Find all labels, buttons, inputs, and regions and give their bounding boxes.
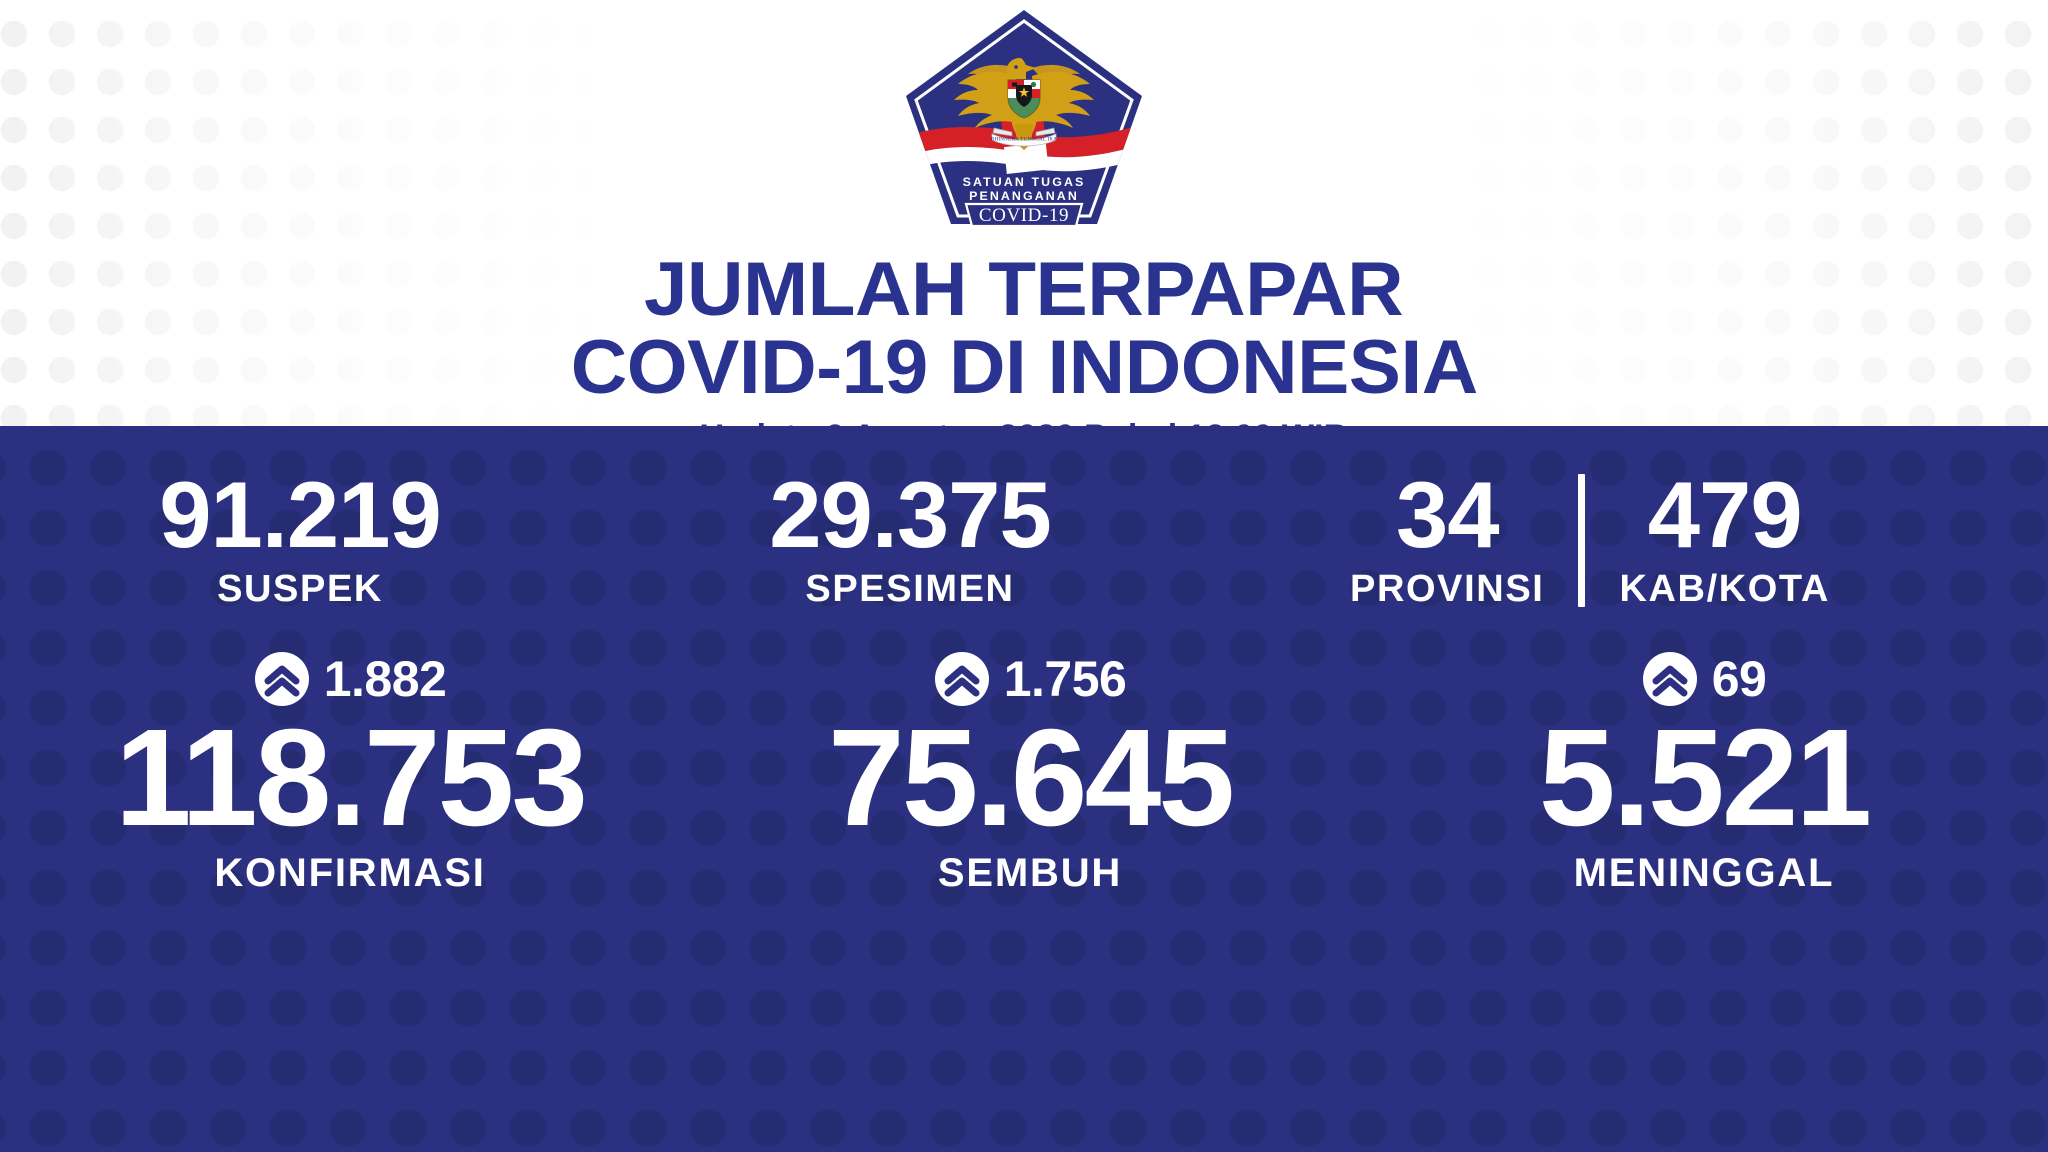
double-chevron-up-icon: [254, 651, 310, 707]
stats-row-bottom: 1.882 118.753 KONFIRMASI 1.756: [0, 648, 2048, 896]
konfirmasi-delta-value: 1.882: [324, 650, 447, 708]
stat-spesimen: 29.375 SPESIMEN: [600, 468, 1220, 611]
double-chevron-up-icon: [934, 651, 990, 707]
double-chevron-up-icon: [1642, 651, 1698, 707]
stat-konfirmasi: 1.882 118.753 KONFIRMASI: [0, 648, 700, 896]
satgas-logo: BHINNEKA TUNGGAL IKA SATUAN TUGAS PENANG…: [900, 6, 1148, 228]
suspek-value: 91.219: [159, 468, 441, 562]
suspek-label: SUSPEK: [217, 568, 383, 611]
stat-kabkota: 479 KAB/KOTA: [1585, 468, 1864, 611]
kabkota-value: 479: [1648, 468, 1802, 562]
meninggal-value: 5.521: [1539, 708, 1869, 849]
stats-row-top: 91.219 SUSPEK 29.375 SPESIMEN 34 PROVINS…: [0, 468, 2048, 611]
stat-provinsi: 34 PROVINSI: [1316, 468, 1578, 611]
stat-meninggal: 69 5.521 MENINGGAL: [1360, 648, 2048, 896]
covid19-indonesia-infographic: BHINNEKA TUNGGAL IKA SATUAN TUGAS PENANG…: [0, 0, 2048, 1152]
sembuh-label: SEMBUH: [938, 851, 1122, 896]
logo-line2-text: PENANGANAN: [969, 189, 1079, 203]
title-line-2: COVID-19 DI INDONESIA: [571, 332, 1478, 404]
stat-region: 34 PROVINSI 479 KAB/KOTA: [1220, 468, 1960, 611]
region-divider: [1578, 474, 1585, 607]
meninggal-label: MENINGGAL: [1574, 851, 1835, 896]
kabkota-label: KAB/KOTA: [1619, 568, 1830, 611]
provinsi-label: PROVINSI: [1350, 568, 1544, 611]
stat-suspek: 91.219 SUSPEK: [0, 468, 600, 611]
header-section: BHINNEKA TUNGGAL IKA SATUAN TUGAS PENANG…: [0, 0, 2048, 426]
logo-line1-text: SATUAN TUGAS: [963, 175, 1086, 189]
meninggal-delta-value: 69: [1712, 650, 1767, 708]
logo-covid19-text: COVID-19: [979, 205, 1069, 226]
title-line-1: JUMLAH TERPAPAR: [644, 254, 1403, 326]
spesimen-value: 29.375: [769, 468, 1051, 562]
spesimen-label: SPESIMEN: [805, 568, 1014, 611]
stat-sembuh: 1.756 75.645 SEMBUH: [700, 648, 1360, 896]
provinsi-value: 34: [1396, 468, 1499, 562]
stats-section: 91.219 SUSPEK 29.375 SPESIMEN 34 PROVINS…: [0, 426, 2048, 1152]
konfirmasi-label: KONFIRMASI: [214, 851, 485, 896]
update-timestamp: Update 6 Agustus 2020 Pukul 12.00 WIB: [700, 418, 1349, 426]
sembuh-delta-value: 1.756: [1004, 650, 1127, 708]
svg-text:BHINNEKA TUNGGAL IKA: BHINNEKA TUNGGAL IKA: [991, 137, 1057, 143]
sembuh-value: 75.645: [828, 708, 1232, 849]
konfirmasi-value: 118.753: [115, 708, 585, 849]
